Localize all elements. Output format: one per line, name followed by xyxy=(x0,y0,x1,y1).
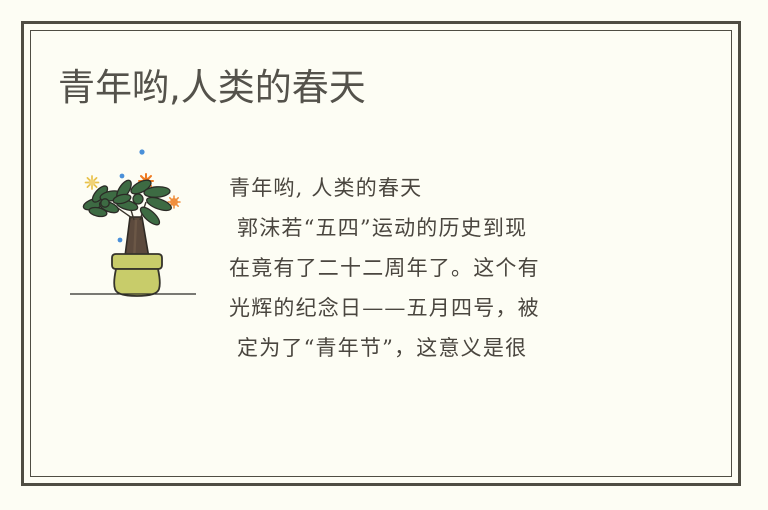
body-line-2: 郭沫若“五四”运动的历史到现 xyxy=(229,208,659,248)
poster-canvas: 青年哟,人类的春天 xyxy=(0,0,768,510)
body-line-5: 定为了“青年节”，这意义是很 xyxy=(229,328,659,368)
potted-plant-illustration xyxy=(62,142,207,302)
sparkle-dot-blue-mid xyxy=(120,174,125,179)
body-line-3: 在竟有了二十二周年了。这个有 xyxy=(229,248,659,288)
body-line-4: 光辉的纪念日——五月四号，被 xyxy=(229,288,659,328)
plant-pot xyxy=(112,254,162,296)
page-title: 青年哟,人类的春天 xyxy=(58,66,366,110)
sparkle-dot-blue-low xyxy=(118,238,123,243)
body-line-1: 青年哟, 人类的春天 xyxy=(229,168,659,208)
sparkle-dot-blue-top xyxy=(139,149,144,154)
sparkle-burst-yellow xyxy=(86,176,99,189)
body-text-block: 青年哟, 人类的春天 郭沫若“五四”运动的历史到现 在竟有了二十二周年了。这个有… xyxy=(229,168,659,368)
